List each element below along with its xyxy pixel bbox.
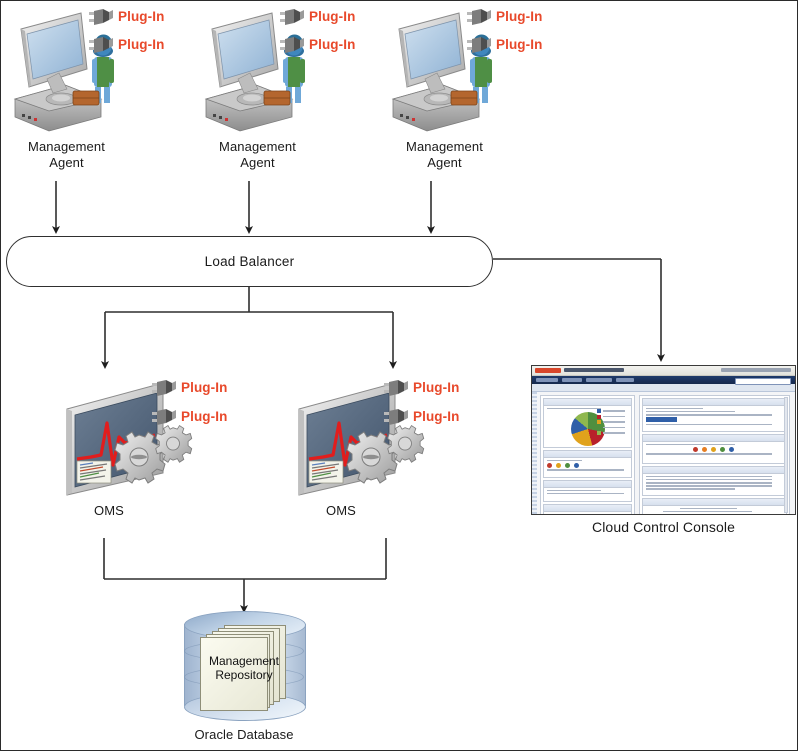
oms-1-label: OMS: [69, 503, 149, 519]
cloud-control-console-thumbnail[interactable]: [531, 365, 796, 515]
agent-2-plugin-2-label: Plug-In: [309, 38, 355, 52]
plug-in-icon: [152, 378, 178, 398]
oms-1-plugin-2[interactable]: Plug-In: [152, 407, 227, 427]
console-panel-monitoring[interactable]: [642, 398, 787, 432]
agent-3-label: Management Agent: [382, 139, 507, 171]
console-right-column: [639, 395, 790, 515]
agent-3-plugin-1-label: Plug-In: [496, 10, 542, 24]
oms-2-plugin-2[interactable]: Plug-In: [384, 407, 459, 427]
console-product-title: [564, 368, 624, 372]
plug-in-icon: [384, 378, 410, 398]
agent-2-plugin-1[interactable]: Plug-In: [280, 7, 355, 27]
agent-1-plugin-1-label: Plug-In: [118, 10, 164, 24]
console-pie-legend: [597, 409, 625, 437]
console-dashboard-body: [532, 392, 795, 515]
oms-2-label: OMS: [301, 503, 381, 519]
agent-3-plugin-2[interactable]: Plug-In: [467, 35, 542, 55]
load-balancer-label: Load Balancer: [205, 254, 295, 269]
console-search-box[interactable]: [735, 378, 791, 385]
oracle-database-caption: Oracle Database: [164, 727, 324, 743]
agent-1-plugin-2[interactable]: Plug-In: [89, 35, 164, 55]
load-balancer-box[interactable]: Load Balancer: [6, 236, 493, 287]
console-panel-jobs[interactable]: [543, 504, 632, 515]
console-panel-compliance-summary[interactable]: [642, 434, 787, 464]
agent-2-plugin-2[interactable]: Plug-In: [280, 35, 355, 55]
agent-3-plugin-1[interactable]: Plug-In: [467, 7, 542, 27]
plug-in-icon: [280, 7, 306, 27]
console-panel-overview[interactable]: [543, 398, 632, 448]
agent-1-label: Management Agent: [4, 139, 129, 171]
plug-in-icon: [89, 35, 115, 55]
oms-2-plugin-1[interactable]: Plug-In: [384, 378, 459, 398]
agent-1-plugin-1[interactable]: Plug-In: [89, 7, 164, 27]
oracle-database-cylinder[interactable]: Management Repository: [184, 611, 304, 723]
console-left-column: [540, 395, 635, 515]
console-scrollbar[interactable]: [784, 397, 788, 513]
agent-1-plugin-2-label: Plug-In: [118, 38, 164, 52]
cloud-control-console-caption: Cloud Control Console: [531, 519, 796, 535]
plug-in-icon: [152, 407, 178, 427]
oms-1-plugin-1-label: Plug-In: [181, 381, 227, 395]
console-panel-compliance-standards[interactable]: [642, 466, 787, 496]
oracle-logo-icon: [535, 368, 561, 373]
console-menu-bar[interactable]: [532, 376, 795, 384]
plug-in-icon: [467, 35, 493, 55]
console-breadcrumb: [532, 384, 795, 392]
plug-in-icon: [384, 407, 410, 427]
console-left-rail: [532, 392, 537, 515]
oms-2-plugin-1-label: Plug-In: [413, 381, 459, 395]
management-repository-label: Management Repository: [184, 654, 304, 682]
agent-3-plugin-2-label: Plug-In: [496, 38, 542, 52]
console-panel-status-table[interactable]: [543, 450, 632, 478]
plug-in-icon: [467, 7, 493, 27]
console-browser-chrome: [532, 366, 795, 376]
oms-1-plugin-1[interactable]: Plug-In: [152, 378, 227, 398]
agent-2-plugin-1-label: Plug-In: [309, 10, 355, 24]
agent-2-label: Management Agent: [195, 139, 320, 171]
console-panel-getting-started[interactable]: [642, 498, 787, 515]
console-panel-violations[interactable]: [543, 480, 632, 502]
plug-in-icon: [280, 35, 306, 55]
console-user-links: [721, 368, 791, 372]
oms-2-plugin-2-label: Plug-In: [413, 410, 459, 424]
oms-1-plugin-2-label: Plug-In: [181, 410, 227, 424]
plug-in-icon: [89, 7, 115, 27]
diagram-canvas: Management Agent Plug-In Plug-In: [0, 0, 798, 751]
